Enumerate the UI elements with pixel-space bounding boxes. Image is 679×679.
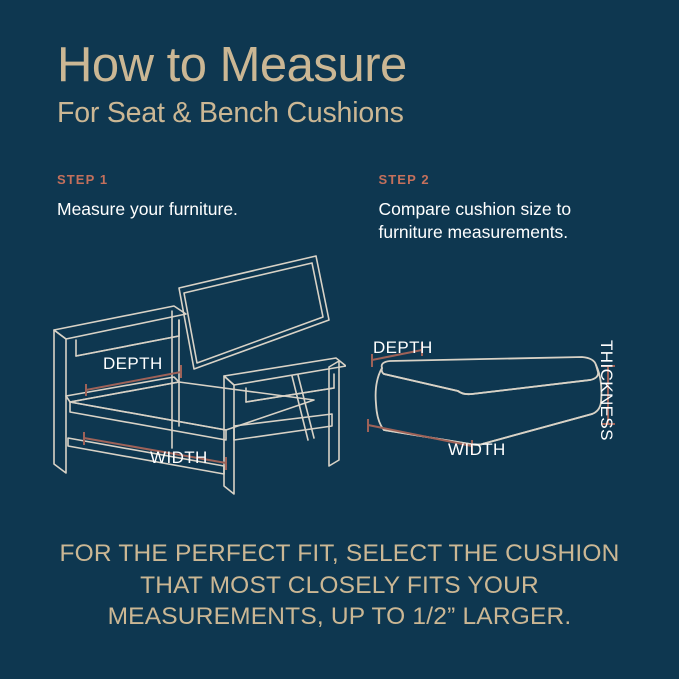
step-2-text: Compare cushion size to furniture measur… <box>379 198 638 245</box>
step-2: STEP 2 Compare cushion size to furniture… <box>379 172 638 245</box>
chair-diagram: DEPTH WIDTH <box>46 248 346 501</box>
chair-left-arm-post <box>54 330 66 473</box>
steps-row: STEP 1 Measure your furniture. STEP 2 Co… <box>57 172 637 245</box>
footer-line-2: THAT MOST CLOSELY FITS YOUR <box>0 570 679 602</box>
diagram-area: DEPTH WIDTH <box>0 248 679 508</box>
chair-backrest-outer <box>179 256 329 369</box>
chair-left-arm-top <box>54 306 186 339</box>
chair-seat-left-rail <box>66 377 179 402</box>
chair-right-lower-stretcher <box>234 414 332 440</box>
step-1-text: Measure your furniture. <box>57 198 316 221</box>
header: How to Measure For Seat & Bench Cushions <box>57 40 637 130</box>
cushion-width-label: WIDTH <box>448 440 506 460</box>
chair-width-label: WIDTH <box>150 448 208 468</box>
chair-right-arm-inner-rail-b <box>246 388 334 402</box>
chair-depth-dimension-line <box>86 372 181 390</box>
chair-seat-front-rail <box>70 402 226 440</box>
footer-callout: FOR THE PERFECT FIT, SELECT THE CUSHION … <box>0 538 679 633</box>
chair-left-arm-inner-rail-b <box>76 336 179 356</box>
cushion-top-face <box>382 357 598 394</box>
cushion-diagram: DEPTH WIDTH THICKNESS <box>360 336 630 471</box>
step-2-kicker: STEP 2 <box>379 172 638 187</box>
cushion-thickness-label: THICKNESS <box>596 340 616 441</box>
footer-line-1: FOR THE PERFECT FIT, SELECT THE CUSHION <box>0 538 679 570</box>
step-1-kicker: STEP 1 <box>57 172 316 187</box>
step-1: STEP 1 Measure your furniture. <box>57 172 316 245</box>
chair-right-arm-top <box>224 358 346 385</box>
infographic-page: How to Measure For Seat & Bench Cushions… <box>0 0 679 679</box>
footer-line-3: MEASUREMENTS, UP TO 1/2” LARGER. <box>0 601 679 633</box>
cushion-top-crease <box>384 374 590 394</box>
chair-right-arm-inner-rail <box>246 374 334 402</box>
chair-depth-label: DEPTH <box>103 354 163 374</box>
cushion-depth-label: DEPTH <box>373 338 433 358</box>
page-subtitle: For Seat & Bench Cushions <box>57 96 637 130</box>
page-title: How to Measure <box>57 40 637 92</box>
